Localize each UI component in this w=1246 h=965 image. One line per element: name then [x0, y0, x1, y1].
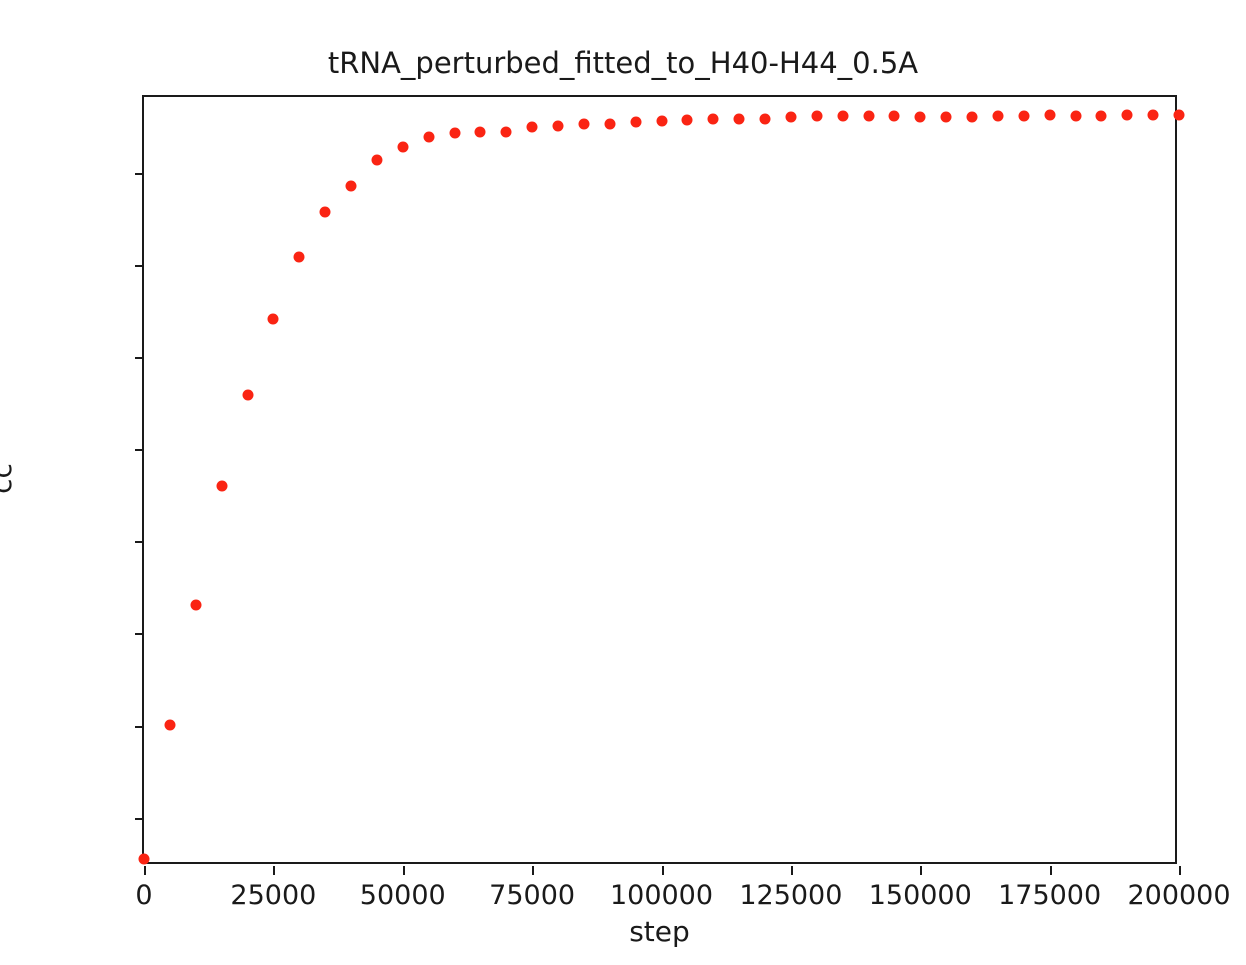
x-tick-mark	[662, 866, 664, 875]
data-point	[967, 111, 978, 122]
x-tick-label: 125000	[739, 880, 842, 911]
x-tick-label: 25000	[230, 880, 316, 911]
y-tick-mark	[135, 357, 144, 359]
y-tick-mark	[135, 633, 144, 635]
x-tick-label: 75000	[489, 880, 575, 911]
x-tick-label: 200000	[1127, 880, 1230, 911]
data-point	[1148, 110, 1159, 121]
data-point	[915, 112, 926, 123]
data-point	[268, 313, 279, 324]
x-tick-mark	[144, 866, 146, 875]
data-point	[139, 854, 150, 865]
x-tick-label: 50000	[360, 880, 446, 911]
chart-title: tRNA_perturbed_fitted_to_H40-H44_0.5A	[0, 46, 1246, 80]
x-axis-label: step	[142, 915, 1177, 948]
data-point	[553, 120, 564, 131]
data-point	[578, 118, 589, 129]
data-point	[811, 110, 822, 121]
x-tick-label: 175000	[998, 880, 1101, 911]
data-point	[294, 252, 305, 263]
data-point	[604, 118, 615, 129]
data-point	[656, 115, 667, 126]
data-point	[371, 154, 382, 165]
y-tick-mark	[135, 818, 144, 820]
data-point	[164, 720, 175, 731]
data-point	[320, 206, 331, 217]
y-axis-label: cc	[0, 463, 18, 494]
y-tick-mark	[135, 449, 144, 451]
x-tick-label: 150000	[869, 880, 972, 911]
data-point	[1018, 110, 1029, 121]
data-point	[1044, 110, 1055, 121]
data-point	[889, 111, 900, 122]
data-point	[837, 110, 848, 121]
data-point	[527, 122, 538, 133]
x-tick-mark	[1050, 866, 1052, 875]
data-point	[397, 142, 408, 153]
data-point	[1174, 110, 1185, 121]
data-point	[449, 128, 460, 139]
data-point	[216, 481, 227, 492]
data-point	[863, 111, 874, 122]
y-tick-mark	[135, 173, 144, 175]
y-tick-mark	[135, 265, 144, 267]
data-point	[242, 389, 253, 400]
data-point	[734, 114, 745, 125]
data-point	[630, 116, 641, 127]
x-tick-mark	[1179, 866, 1181, 875]
data-point	[1096, 110, 1107, 121]
figure-canvas: tRNA_perturbed_fitted_to_H40-H44_0.5A 0.…	[0, 0, 1246, 965]
data-point	[682, 115, 693, 126]
data-point	[501, 126, 512, 137]
x-tick-label: 100000	[610, 880, 713, 911]
data-point	[760, 113, 771, 124]
plot-area: 0.540.560.580.600.620.640.660.68 0250005…	[142, 95, 1177, 864]
x-tick-label: 0	[135, 880, 152, 911]
x-tick-mark	[273, 866, 275, 875]
data-point	[708, 114, 719, 125]
data-point	[785, 111, 796, 122]
x-tick-mark	[791, 866, 793, 875]
x-tick-mark	[403, 866, 405, 875]
data-point	[475, 127, 486, 138]
x-tick-mark	[532, 866, 534, 875]
y-tick-mark	[135, 726, 144, 728]
y-tick-mark	[135, 541, 144, 543]
scatter-series-cc	[144, 97, 1175, 862]
data-point	[1070, 110, 1081, 121]
data-point	[992, 110, 1003, 121]
x-tick-mark	[920, 866, 922, 875]
data-point	[1122, 110, 1133, 121]
data-point	[190, 600, 201, 611]
data-point	[346, 180, 357, 191]
data-point	[941, 111, 952, 122]
data-point	[423, 132, 434, 143]
